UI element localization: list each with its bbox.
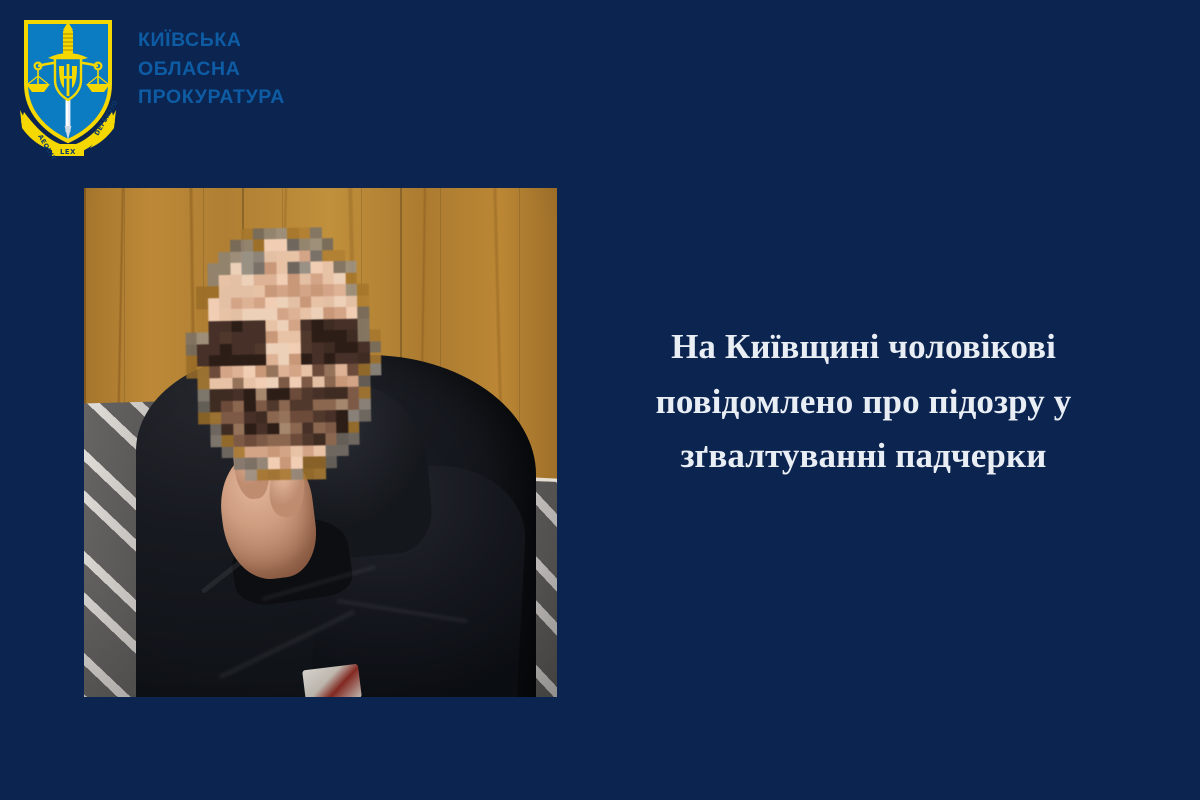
pixelated-face-censor	[184, 226, 383, 481]
news-headline: На Київщині чоловікові повідомлено про п…	[597, 320, 1130, 484]
brand-line-2: ОБЛАСНА	[138, 57, 285, 83]
emblem-motto-center: LEX	[60, 148, 76, 156]
kyiv-regional-prosecutors-office-emblem: AEQUITAS LEX DEFENSIO	[14, 14, 122, 160]
suspect-photograph	[84, 188, 557, 697]
news-card: AEQUITAS LEX DEFENSIO КИЇВСЬКА ОБЛАСНА П…	[0, 0, 1200, 800]
brand-title: КИЇВСЬКА ОБЛАСНА ПРОКУРАТУРА	[138, 28, 285, 111]
brand-line-3: ПРОКУРАТУРА	[138, 85, 285, 111]
brand-line-1: КИЇВСЬКА	[138, 28, 285, 54]
brand-header: AEQUITAS LEX DEFENSIO КИЇВСЬКА ОБЛАСНА П…	[14, 14, 285, 160]
jacket-badge-patch	[302, 664, 362, 697]
